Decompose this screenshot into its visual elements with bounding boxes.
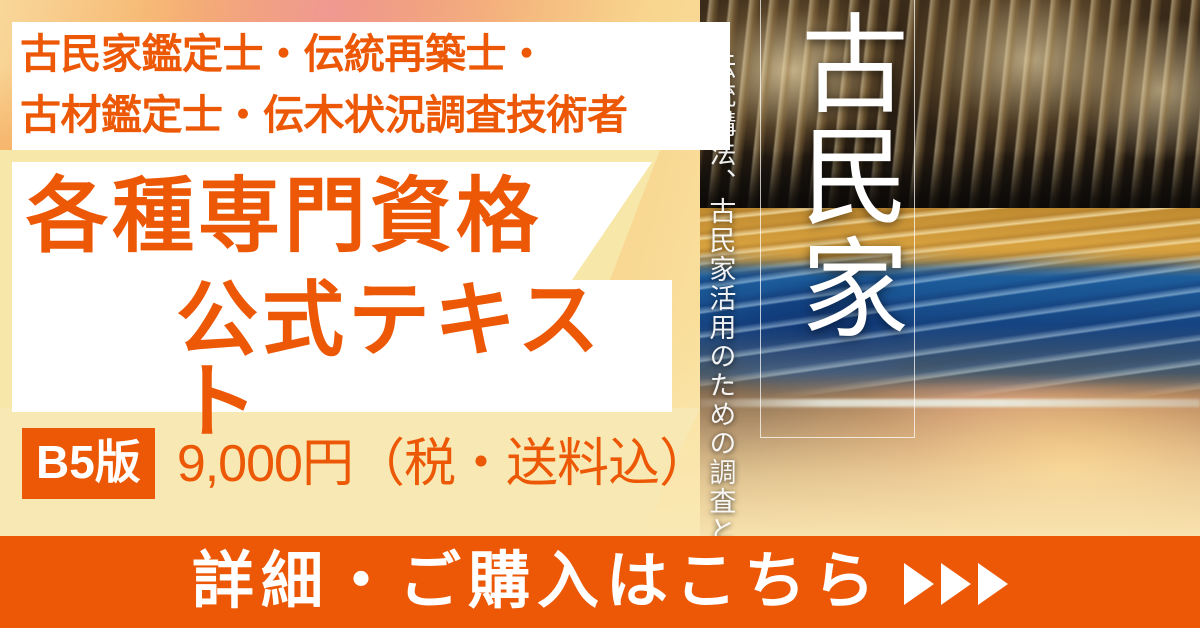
format-badge: B5版 xyxy=(22,428,155,499)
price-row: B5版 9,000円（税・送料込） xyxy=(22,428,710,499)
triangle-right-icon xyxy=(941,563,971,605)
headline-block: 各種専門資格 公式テキスト xyxy=(14,176,674,444)
price-text: 9,000円（税・送料込） xyxy=(177,438,710,490)
headline-line-2: 公式テキスト xyxy=(14,280,674,444)
promo-banner: 伝統構法、古民家活用のための調査と再生の 古民家 古民家鑑定士・伝統再築士・ 古… xyxy=(0,0,1200,628)
cta-label: 詳細・ご購入はこちら xyxy=(192,551,882,613)
headline-line-1: 各種専門資格 xyxy=(14,176,674,258)
cta-bar[interactable]: 詳細・ご購入はこちら xyxy=(0,536,1200,628)
qualification-line-1: 古民家鑑定士・伝統再築士・ xyxy=(20,24,720,85)
qualifications-text: 古民家鑑定士・伝統再築士・ 古材鑑定士・伝木状況調査技術者 xyxy=(20,24,720,146)
qualification-line-2: 古材鑑定士・伝木状況調査技術者 xyxy=(20,85,720,146)
book-cover-title: 古民家 xyxy=(790,8,910,344)
triangle-right-icon xyxy=(978,563,1008,605)
triangle-right-icon xyxy=(904,563,934,605)
cta-arrows xyxy=(904,563,1008,605)
